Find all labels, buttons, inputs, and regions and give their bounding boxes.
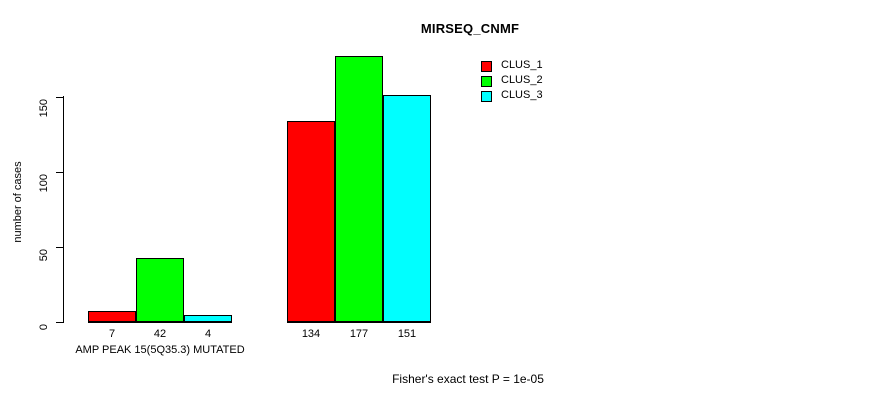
chart-footer-annotation: Fisher's exact test P = 1e-05 bbox=[0, 372, 890, 386]
group-1-baseline bbox=[88, 322, 232, 323]
bar-value-group1-clus2: 42 bbox=[136, 328, 184, 340]
legend-swatch-clus3 bbox=[481, 91, 492, 102]
group-2-baseline bbox=[287, 322, 431, 323]
group-1-label: AMP PEAK 15(5Q35.3) MUTATED bbox=[28, 344, 292, 356]
bar-value-group2-clus3: 151 bbox=[383, 328, 431, 340]
legend-label-clus1: CLUS_1 bbox=[501, 59, 543, 71]
bar-group1-clus3 bbox=[184, 315, 232, 322]
bar-value-group2-clus1: 134 bbox=[287, 328, 335, 340]
legend-swatch-clus1 bbox=[481, 61, 492, 72]
y-tick-50 bbox=[56, 247, 63, 248]
chart-canvas: MIRSEQ_CNMF 0 50 100 150 number of cases… bbox=[0, 0, 890, 400]
legend-swatch-clus2 bbox=[481, 76, 492, 87]
y-axis-line bbox=[63, 96, 64, 323]
bar-value-group1-clus1: 7 bbox=[88, 328, 136, 340]
y-tick-150 bbox=[56, 97, 63, 98]
bar-group2-clus3 bbox=[383, 95, 431, 322]
bar-value-group1-clus3: 4 bbox=[184, 328, 232, 340]
legend-label-clus3: CLUS_3 bbox=[501, 89, 543, 101]
bar-group1-clus1 bbox=[88, 311, 136, 322]
y-axis-label: number of cases bbox=[12, 132, 24, 272]
y-tick-label-100: 100 bbox=[38, 174, 50, 218]
legend-label-clus2: CLUS_2 bbox=[501, 74, 543, 86]
bar-group2-clus2 bbox=[335, 56, 383, 322]
bar-value-group2-clus2: 177 bbox=[335, 328, 383, 340]
chart-title: MIRSEQ_CNMF bbox=[0, 21, 890, 36]
bar-group1-clus2 bbox=[136, 258, 184, 322]
y-tick-label-50: 50 bbox=[38, 249, 50, 293]
y-tick-label-150: 150 bbox=[38, 99, 50, 143]
y-tick-0 bbox=[56, 322, 63, 323]
bar-group2-clus1 bbox=[287, 121, 335, 322]
y-tick-100 bbox=[56, 172, 63, 173]
